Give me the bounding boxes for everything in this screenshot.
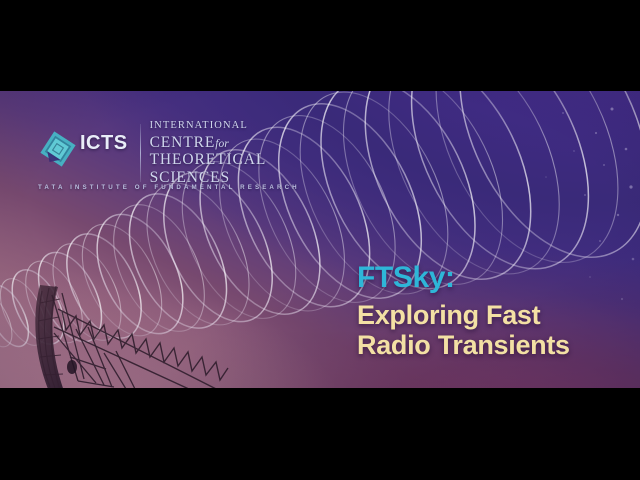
video-frame-screenshot: ICTS INTERNATIONAL CENTREfor THEORETICAL… (0, 0, 640, 480)
title-main: FTSky: (357, 261, 570, 295)
icts-full-name: INTERNATIONAL CENTREfor THEORETICAL SCIE… (150, 121, 267, 185)
icts-name-line-4: SCIENCES (150, 170, 267, 186)
title-subtitle-line-1: Exploring Fast (357, 300, 570, 330)
icts-name-line-2: CENTREfor (150, 135, 267, 151)
icts-tagline: TATA INSTITUTE OF FUNDAMENTAL RESEARCH (38, 184, 300, 191)
icts-name-centre: CENTRE (150, 134, 216, 151)
icts-diamond-mark-icon (38, 129, 78, 169)
title-block: FTSky: Exploring Fast Radio Transients (357, 261, 570, 360)
title-subtitle-line-2: Radio Transients (357, 330, 570, 360)
icts-name-connector: for (215, 138, 228, 150)
icts-logo: ICTS INTERNATIONAL CENTREfor THEORETICAL… (38, 121, 266, 185)
letterbox-bar-bottom (0, 388, 640, 480)
icts-acronym: ICTS (80, 132, 128, 155)
letterbox-bar-top (0, 0, 640, 91)
logo-divider (140, 124, 141, 182)
icts-name-line-1: INTERNATIONAL (150, 121, 267, 132)
icts-name-line-3: THEORETICAL (150, 152, 267, 168)
video-picture-area: ICTS INTERNATIONAL CENTREfor THEORETICAL… (0, 91, 640, 388)
